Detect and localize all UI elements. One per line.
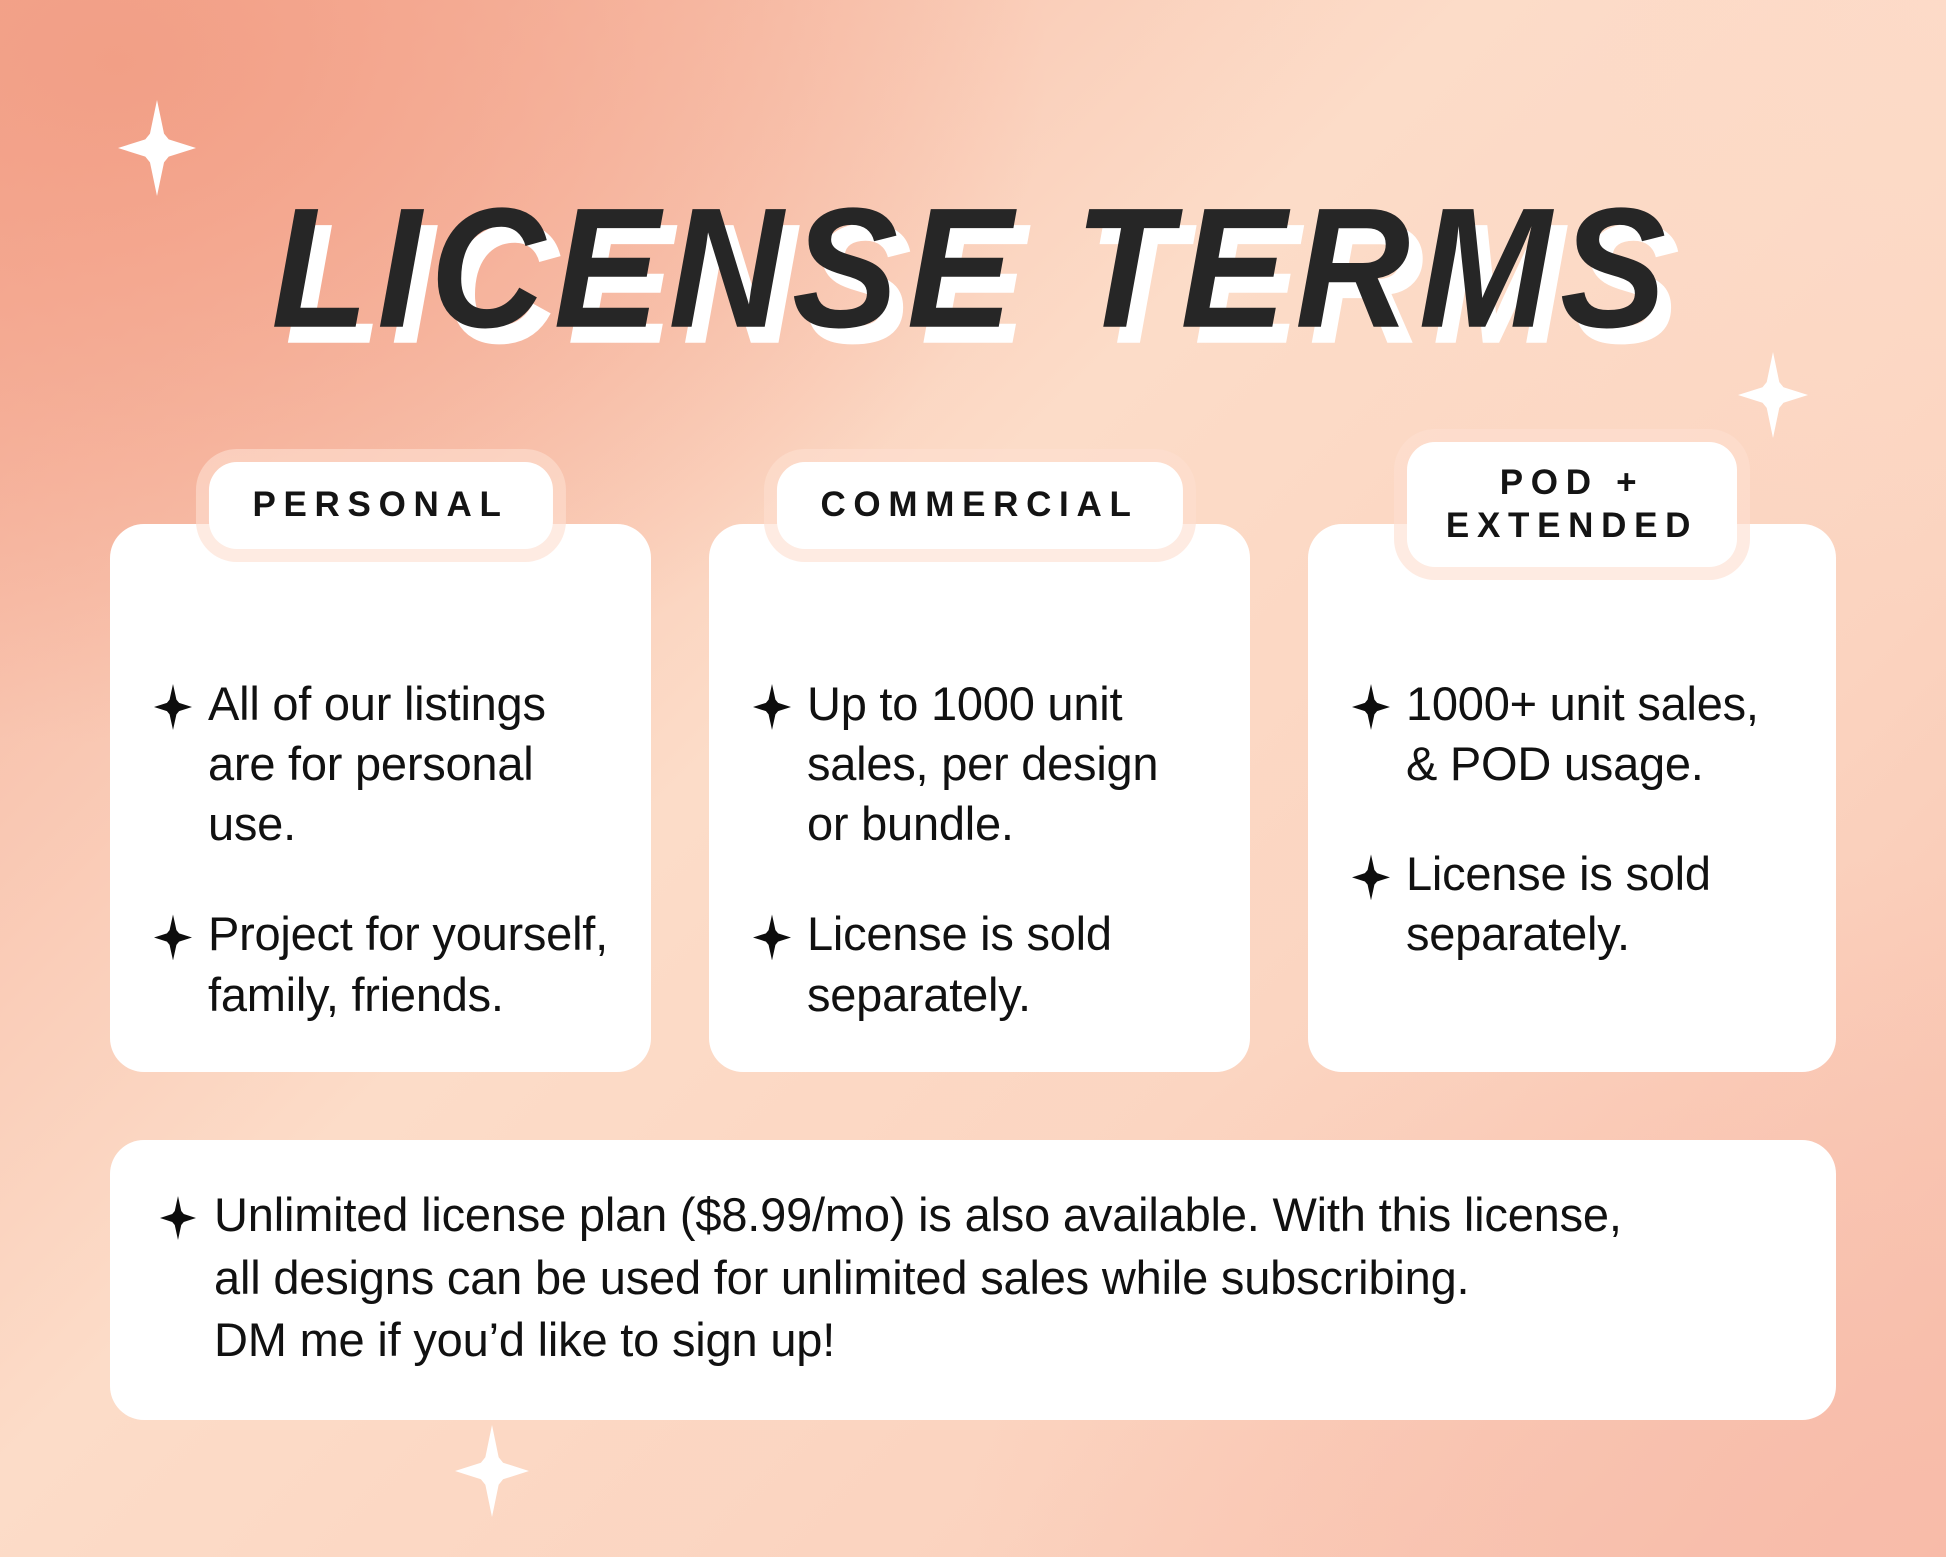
list-item: 1000+ unit sales, & POD usage. [1352,674,1806,794]
card-bullet-list: All of our listings are for personal use… [140,674,621,1025]
page-title-container: LICENSE TERMS [0,182,1946,332]
list-item-text: License is sold separately. [807,904,1112,1024]
sparkle-bullet-icon [753,914,791,960]
list-item: License is sold separately. [753,904,1220,1024]
list-item-text: Project for yourself, family, friends. [208,904,608,1024]
sparkle-bullet-icon [1352,684,1390,730]
list-item: License is sold separately. [1352,844,1806,964]
list-item: All of our listings are for personal use… [154,674,621,854]
sparkle-bullet-icon [154,684,192,730]
list-item: Project for yourself, family, friends. [154,904,621,1024]
list-item-text: All of our listings are for personal use… [208,674,546,854]
card-bullet-list: Up to 1000 unit sales, per design or bun… [739,674,1220,1025]
list-item-text: 1000+ unit sales, & POD usage. [1406,674,1759,794]
sparkle-bullet-icon [1352,854,1390,900]
card-badge-commercial: COMMERCIAL [776,462,1182,549]
card-bullet-list: 1000+ unit sales, & POD usage. License i… [1338,674,1806,965]
sparkle-bullet-icon [753,684,791,730]
card-badge-label: COMMERCIAL [820,484,1138,527]
list-item: Unlimited license plan ($8.99/mo) is als… [160,1184,1786,1372]
sparkle-bullet-icon [154,914,192,960]
banner-text: Unlimited license plan ($8.99/mo) is als… [214,1184,1622,1372]
list-item-text: Up to 1000 unit sales, per design or bun… [807,674,1158,854]
card-badge-pod-extended: POD + EXTENDED [1407,442,1737,567]
unlimited-plan-banner: Unlimited license plan ($8.99/mo) is als… [110,1140,1836,1420]
list-item-text: License is sold separately. [1406,844,1711,964]
card-badge-personal: PERSONAL [208,462,552,549]
license-card-personal: PERSONAL All of our listings are for per… [110,524,651,1072]
license-card-commercial: COMMERCIAL Up to 1000 unit sales, per de… [709,524,1250,1072]
license-tier-cards: PERSONAL All of our listings are for per… [110,524,1836,1072]
sparkle-bullet-icon [160,1196,196,1240]
card-badge-label: PERSONAL [252,484,508,527]
list-item: Up to 1000 unit sales, per design or bun… [753,674,1220,854]
license-card-pod-extended: POD + EXTENDED 1000+ unit sales, & POD u… [1308,524,1836,1072]
page-title: LICENSE TERMS [271,182,1674,353]
card-badge-label: POD + EXTENDED [1445,462,1699,547]
